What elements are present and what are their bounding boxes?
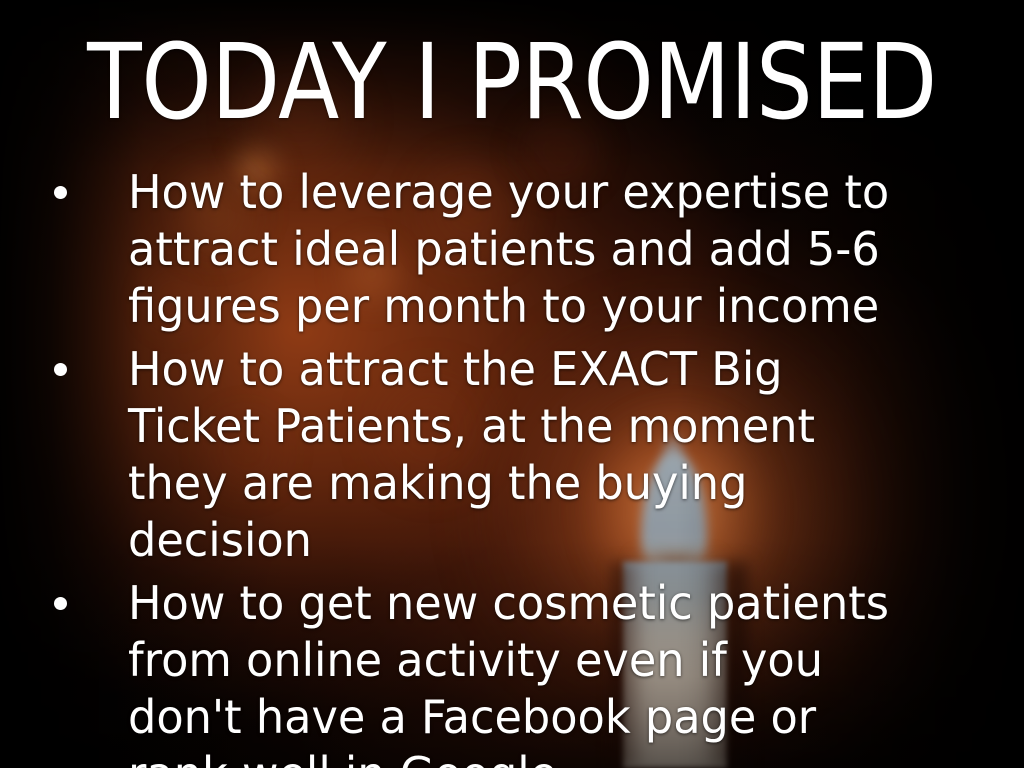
list-item: How to get new cosmetic patients from on… — [52, 575, 932, 768]
bullet-dot-icon — [52, 363, 68, 376]
presentation-slide: TODAY I PROMISED How to leverage your ex… — [0, 0, 1024, 768]
bullet-dot-icon — [52, 186, 68, 199]
bullet-list: How to leverage your expertise to attrac… — [52, 164, 932, 768]
slide-content: TODAY I PROMISED How to leverage your ex… — [0, 0, 1024, 768]
list-item: How to leverage your expertise to attrac… — [52, 164, 932, 335]
list-item-text: How to get new cosmetic patients from on… — [128, 575, 908, 768]
list-item-text: How to leverage your expertise to attrac… — [128, 164, 908, 335]
bullet-dot-icon — [52, 597, 68, 610]
list-item-text: How to attract the EXACT Big Ticket Pati… — [128, 341, 908, 569]
list-item: How to attract the EXACT Big Ticket Pati… — [52, 341, 932, 569]
page-title: TODAY I PROMISED — [72, 30, 953, 134]
